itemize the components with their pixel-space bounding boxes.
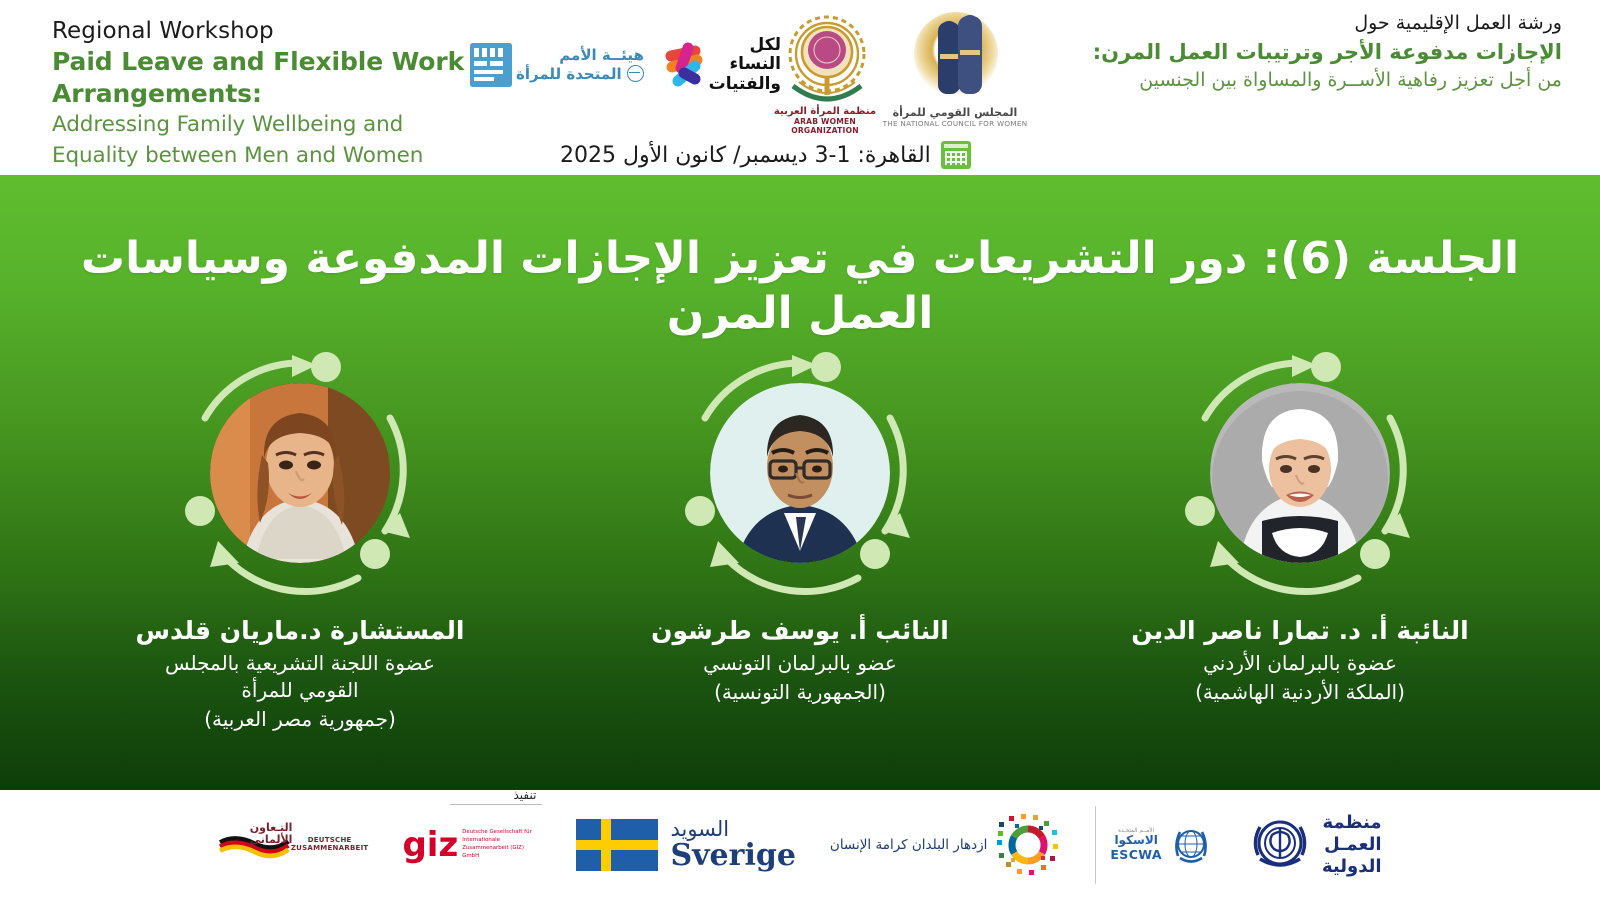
speaker-photo	[710, 383, 890, 563]
speaker-role: عضو بالبرلمان التونسي	[600, 650, 1000, 677]
escwa-label: الأمــم المتحـدة الاسكوا ESCWA	[1110, 828, 1162, 863]
header-arabic-kicker: ورشة العمل الإقليمية حول	[1092, 10, 1562, 38]
ilo-label: منظمة العمـل الدولية	[1322, 812, 1382, 878]
sweden-label-en: Sverige	[670, 840, 795, 872]
speaker-card: النائب أ. يوسف طرشون عضو بالبرلمان التون…	[600, 345, 1000, 706]
escwa-label-ar: الاسكوا	[1110, 834, 1162, 847]
german-cooperation-logo: التـعاون الألماني DEUTSCHE ZUSAMMENARBEI…	[218, 806, 368, 884]
speaker-name: النائبة أ. د. تمارا ناصر الدين	[1100, 615, 1500, 646]
speaker-avatar	[1172, 345, 1428, 601]
german-cooperation-label-ar: التـعاون الألماني	[234, 822, 292, 847]
speaker-country: (الملكة الأردنية الهاشمية)	[1100, 679, 1500, 706]
awo-label-en: ARAB WOMEN ORGANIZATION	[760, 117, 890, 135]
sweden-label: السويد Sverige	[670, 819, 795, 872]
header-english-block: Regional Workshop Paid Leave and Flexibl…	[52, 16, 472, 171]
escwa-logo: الأمــم المتحـدة الاسكوا ESCWA	[1095, 806, 1214, 884]
giz-full-name: Deutsche Gesellschaft für Internationale…	[462, 829, 532, 860]
sdg-wheel-icon	[995, 812, 1061, 878]
speaker-name: المستشارة د.ماريان قلدس	[100, 615, 500, 646]
poster-body: الجلسة (6): دور التشريعات في تعزيز الإجا…	[0, 175, 1600, 790]
event-date-bar: القاهرة: 1-3 ديسمبر/ كانون الأول 2025	[560, 138, 1030, 172]
ncw-label-en: THE NATIONAL COUNCIL FOR WOMEN	[880, 119, 1030, 128]
speaker-role: عضوة بالبرلمان الأردني	[1100, 650, 1500, 677]
speaker-avatar	[172, 345, 428, 601]
speaker-country: (جمهورية مصر العربية)	[100, 706, 500, 733]
session-title: الجلسة (6): دور التشريعات في تعزيز الإجا…	[60, 231, 1540, 341]
german-cooperation-label-en: DEUTSCHE ZUSAMMENARBEIT	[291, 836, 369, 852]
un-women-label-line2: المتحدة للمرأة	[516, 65, 644, 83]
sdg-slogan: ازدهار البلدان كرامة الإنسان	[830, 837, 987, 853]
speaker-photo	[1210, 383, 1390, 563]
speaker-card: المستشارة د.ماريان قلدس عضوة اللجنة التش…	[100, 345, 500, 733]
arab-women-organization-logo: منظمة المرأة العربية ARAB WOMEN ORGANIZA…	[760, 8, 890, 158]
ncw-label-ar: المجلس القومي للمرأة	[880, 106, 1030, 119]
header-english-kicker: Regional Workshop	[52, 16, 472, 46]
awo-label-ar: منظمة المرأة العربية	[760, 106, 890, 117]
ilo-emblem-icon	[1248, 815, 1312, 875]
ilo-label-line1: منظمة	[1322, 812, 1382, 834]
speakers-row: المستشارة د.ماريان قلدس عضوة اللجنة التش…	[0, 345, 1600, 775]
national-council-for-women-logo: المجلس القومي للمرأة THE NATIONAL COUNCI…	[880, 8, 1030, 158]
header-english-subtitle: Addressing Family Wellbeing and Equality…	[52, 110, 472, 171]
sweden-flag-icon	[576, 819, 658, 871]
giz-implemented-by-label: تنفيذ	[514, 788, 537, 802]
un-women-logo: هيئــة الأمم المتحدة للمرأة	[470, 34, 670, 96]
sweden-logo: السويد Sverige	[576, 806, 795, 884]
ilo-label-line3: الدولية	[1322, 856, 1382, 878]
escwa-label-en: ESCWA	[1110, 847, 1162, 862]
giz-wordmark: giz	[402, 830, 458, 861]
speaker-role: عضوة اللجنة التشريعية بالمجلس القومي للم…	[100, 650, 500, 704]
awo-emblem-icon	[781, 12, 869, 104]
giz-logo: تنفيذ giz Deutsche Gesellschaft für Inte…	[402, 806, 542, 884]
sdg-logo: ازدهار البلدان كرامة الإنسان	[830, 806, 1061, 884]
sweden-label-ar: السويد	[670, 819, 795, 840]
speaker-photo	[210, 383, 390, 563]
fawg-ribbon-icon	[662, 42, 706, 88]
calendar-icon	[941, 141, 971, 169]
ncw-emblem-icon	[900, 10, 1010, 106]
header-arabic-block: ورشة العمل الإقليمية حول الإجازات مدفوعة…	[1092, 10, 1562, 94]
speaker-country: (الجمهورية التونسية)	[600, 679, 1000, 706]
un-emblem-icon	[627, 65, 644, 82]
poster-header: Regional Workshop Paid Leave and Flexibl…	[0, 0, 1600, 175]
ilo-label-line2: العمـل	[1322, 834, 1382, 856]
un-women-label: هيئــة الأمم المتحدة للمرأة	[516, 47, 644, 83]
speaker-name: النائب أ. يوسف طرشون	[600, 615, 1000, 646]
header-arabic-subtitle: من أجل تعزيز رفاهية الأســرة والمساواة ب…	[1092, 67, 1562, 95]
speaker-card: النائبة أ. د. تمارا ناصر الدين عضوة بالب…	[1100, 345, 1500, 706]
header-arabic-title: الإجازات مدفوعة الأجر وترتيبات العمل الم…	[1092, 38, 1562, 67]
un-emblem-icon	[1168, 822, 1214, 868]
giz-divider	[450, 804, 542, 805]
un-women-mark-icon	[470, 43, 512, 87]
event-poster: Regional Workshop Paid Leave and Flexibl…	[0, 0, 1600, 900]
speaker-avatar	[672, 345, 928, 601]
un-women-label-line1: هيئــة الأمم	[516, 47, 644, 64]
poster-footer: التـعاون الألماني DEUTSCHE ZUSAMMENARBEI…	[0, 790, 1600, 900]
ilo-logo: منظمة العمـل الدولية	[1248, 806, 1382, 884]
header-english-title: Paid Leave and Flexible Work Arrangement…	[52, 46, 472, 110]
event-date-text: القاهرة: 1-3 ديسمبر/ كانون الأول 2025	[560, 143, 931, 168]
